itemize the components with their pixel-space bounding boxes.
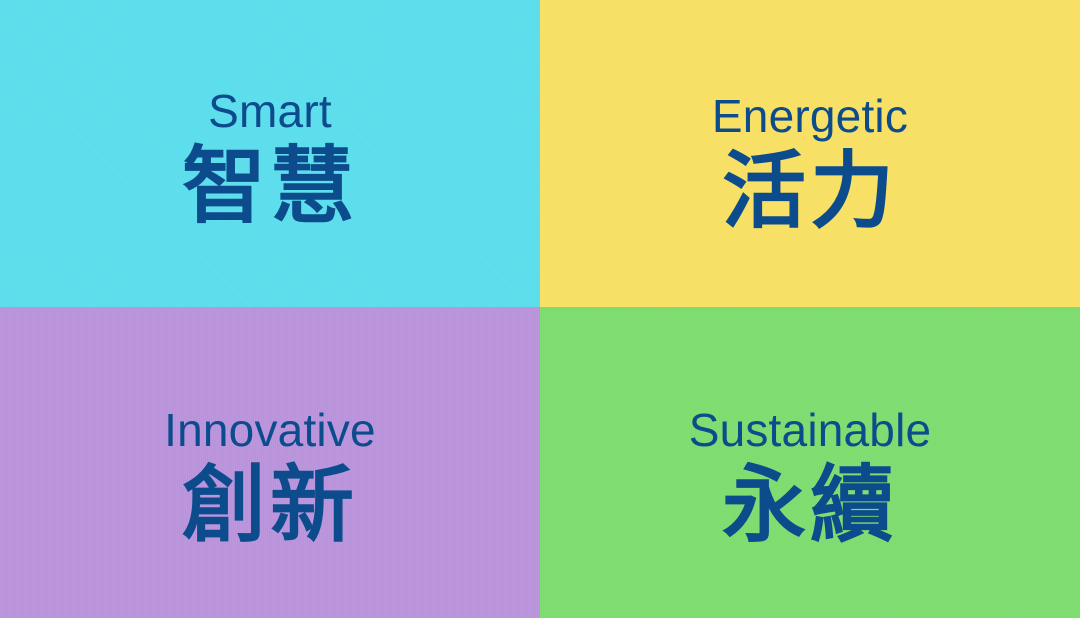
label-stack-innovative: Innovative 創新 (164, 407, 376, 547)
quadrant-energetic[interactable]: Energetic 活力 (540, 0, 1080, 307)
quadrant-smart-english-label: Smart (208, 88, 332, 134)
brand-values-canvas: Smart 智慧 Energetic 活力 Innovative 創新 Sust… (0, 0, 1080, 618)
quadrant-smart[interactable]: Smart 智慧 (0, 0, 540, 307)
quadrant-grid: Smart 智慧 Energetic 活力 Innovative 創新 Sust… (0, 0, 1080, 618)
quadrant-innovative[interactable]: Innovative 創新 (0, 307, 540, 618)
quadrant-innovative-english-label: Innovative (164, 407, 376, 453)
quadrant-sustainable-english-label: Sustainable (689, 407, 932, 453)
label-stack-sustainable: Sustainable 永續 (689, 407, 932, 547)
quadrant-energetic-english-label: Energetic (712, 93, 908, 139)
quadrant-smart-chinese-label: 智慧 (182, 144, 358, 228)
quadrant-energetic-chinese-label: 活力 (722, 149, 898, 233)
label-stack-smart: Smart 智慧 (182, 88, 358, 228)
quadrant-innovative-chinese-label: 創新 (182, 463, 358, 547)
quadrant-sustainable-chinese-label: 永續 (722, 463, 898, 547)
label-stack-energetic: Energetic 活力 (712, 93, 908, 233)
quadrant-sustainable[interactable]: Sustainable 永續 (540, 307, 1080, 618)
